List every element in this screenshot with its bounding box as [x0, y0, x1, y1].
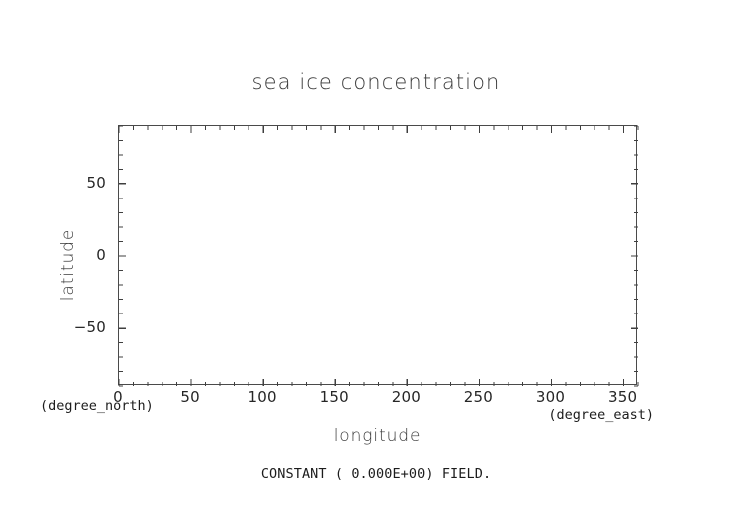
- x-tick-label: 50: [180, 388, 200, 406]
- plot-title: sea ice concentration: [0, 70, 752, 94]
- y-axis-title: latitude: [58, 135, 78, 395]
- x-tick-label: 350: [608, 388, 637, 406]
- x-axis-units-label: (degree_east): [548, 407, 654, 423]
- x-tick-label: 300: [536, 388, 565, 406]
- y-tick-label: 0: [96, 246, 106, 264]
- constant-field-caption: CONSTANT ( 0.000E+00) FIELD.: [0, 466, 752, 482]
- x-tick-label: 200: [392, 388, 421, 406]
- plot-frame: [118, 125, 637, 385]
- x-tick-label: 250: [464, 388, 493, 406]
- y-tick-label: 50: [87, 174, 107, 192]
- figure-canvas: sea ice concentration 050100150200250300…: [0, 0, 752, 532]
- x-tick-label: 150: [320, 388, 349, 406]
- y-tick-label: −50: [74, 318, 106, 336]
- axis-ticks: [119, 126, 638, 386]
- x-axis-title: longitude: [118, 426, 637, 446]
- x-tick-label: 100: [248, 388, 277, 406]
- y-axis-units-label: (degree_north): [40, 398, 154, 414]
